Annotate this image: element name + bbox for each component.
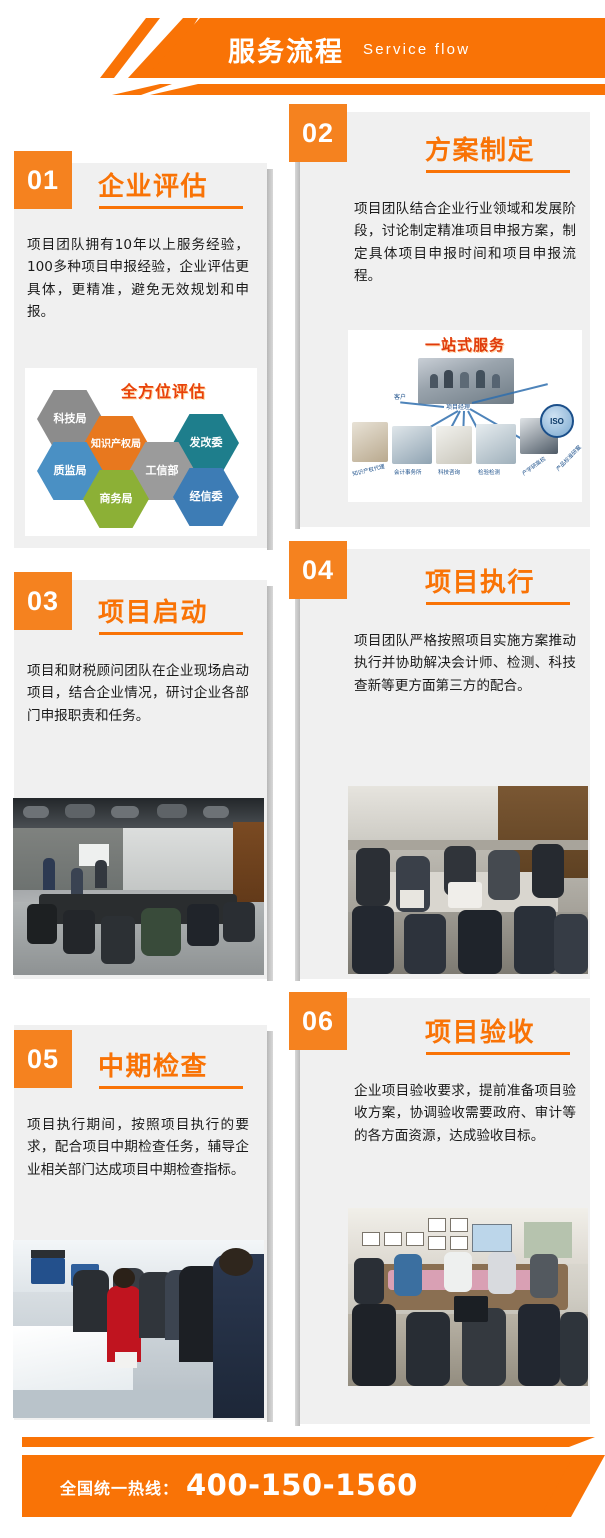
step-number-badge-05: 05 — [14, 1030, 72, 1088]
card-shadow — [267, 169, 273, 550]
hotline-label: 全国统一热线： — [60, 1475, 179, 1499]
title-rule-03 — [99, 632, 243, 635]
card-shadow — [267, 1031, 273, 1422]
one-stop-service-diagram: 一站式服务 客户 项目经理 ISO 知识产权代理 会计事务所 科技咨询 检验检测… — [348, 330, 582, 502]
step-title-01: 企业评估 — [98, 166, 208, 203]
page-subtitle: Service flow — [363, 41, 470, 58]
title-rule-05 — [99, 1086, 243, 1089]
one-stop-photo-consulting — [436, 426, 472, 464]
step-body-03: 项目和财税顾问团队在企业现场启动项目，结合企业情况，研讨企业各部门申报职责和任务… — [27, 660, 249, 727]
conference-discussion-photo — [348, 786, 588, 974]
card-shadow — [295, 118, 300, 529]
hotline-number[interactable]: 400-150-1560 — [186, 1468, 418, 1502]
step-body-04: 项目团队严格按照项目实施方案推动执行并协助解决会计师、检测、科技查新等更方面第三… — [354, 630, 576, 697]
hexagon-diagram-title: 全方位评估 — [121, 378, 206, 402]
one-stop-caption-4: 产学研高校 — [520, 455, 547, 478]
step-title-05: 中期检查 — [98, 1046, 208, 1083]
one-stop-caption-3: 检验检测 — [478, 468, 500, 476]
step-title-03: 项目启动 — [98, 592, 208, 629]
step-body-06: 企业项目验收要求，提前准备项目验收方案，协调验收需要政府、审计等的各方面资源，达… — [354, 1080, 576, 1147]
step-title-04: 项目执行 — [425, 562, 535, 599]
one-stop-caption-1: 会计事务所 — [394, 468, 422, 476]
header-underline-stripe — [150, 84, 605, 95]
one-stop-caption-2: 科技咨询 — [438, 468, 460, 476]
one-stop-photo-ip — [352, 422, 388, 462]
one-stop-photo-accounting — [392, 426, 432, 464]
step-number-badge-03: 03 — [14, 572, 72, 630]
step-body-05: 项目执行期间，按照项目执行的要求，配合项目中期检查任务，辅导企业相关部门达成项目… — [27, 1114, 249, 1181]
title-rule-04 — [426, 602, 570, 605]
title-rule-02 — [426, 170, 570, 173]
one-stop-title: 一站式服务 — [425, 334, 505, 355]
infographic-page: 服务流程 Service flow 01 企业评估 项目团队拥有10年以上服务经… — [0, 0, 605, 1538]
one-stop-center-label: 项目经理 — [446, 402, 470, 411]
site-visit-photo — [13, 1240, 264, 1418]
step-title-02: 方案制定 — [425, 130, 535, 167]
step-body-01: 项目团队拥有10年以上服务经验，100多种项目申报经验，企业评估更具体，更精准，… — [27, 234, 249, 324]
acceptance-meeting-photo — [348, 1208, 588, 1386]
iso-seal-icon: ISO — [540, 404, 574, 438]
hexagon-assessment-diagram: 全方位评估 科技局 知识产权局 发改委 质监局 工信部 经信委 商务局 — [25, 368, 257, 536]
page-title: 服务流程 — [228, 30, 344, 69]
step-number-badge-04: 04 — [289, 541, 347, 599]
card-shadow — [267, 586, 273, 981]
page-header: 服务流程 Service flow — [0, 0, 605, 120]
title-rule-01 — [99, 206, 243, 209]
step-title-06: 项目验收 — [425, 1012, 535, 1049]
card-shadow — [295, 1004, 300, 1426]
one-stop-caption-5: 产品标准研案 — [554, 443, 582, 472]
card-shadow — [295, 555, 300, 981]
step-number-badge-02: 02 — [289, 104, 347, 162]
one-stop-client-label: 客户 — [394, 392, 406, 401]
step-body-02: 项目团队结合企业行业领域和发展阶段，讨论制定精准项目申报方案，制定具体项目申报时… — [354, 198, 576, 288]
step-number-badge-06: 06 — [289, 992, 347, 1050]
meeting-room-photo — [13, 798, 264, 975]
title-rule-06 — [426, 1052, 570, 1055]
step-number-badge-01: 01 — [14, 151, 72, 209]
footer-stripe — [22, 1437, 552, 1447]
one-stop-photo-testing — [476, 424, 516, 464]
one-stop-caption-0: 知识产权代理 — [352, 462, 386, 478]
